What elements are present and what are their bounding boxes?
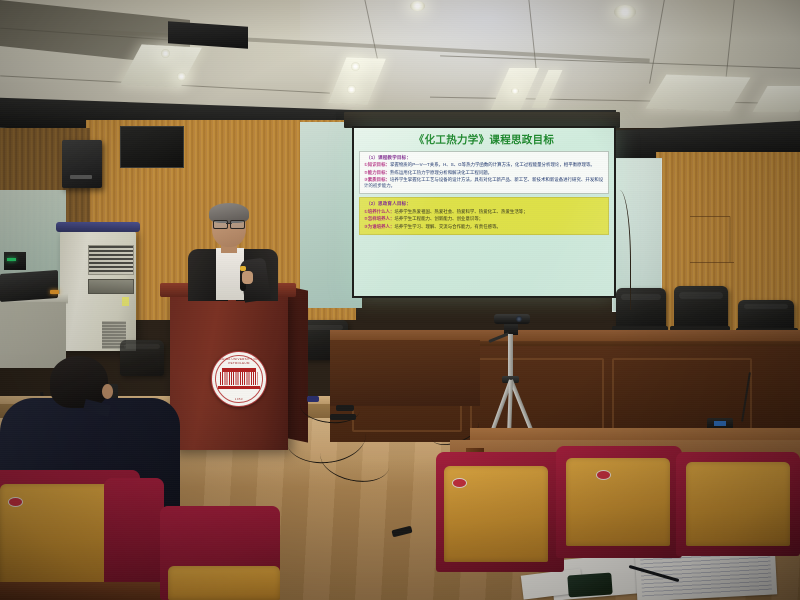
seat-badge bbox=[8, 497, 23, 507]
presenter-figure bbox=[186, 203, 282, 299]
section-1-line: ①知识目标：掌握物质的P—V—T关系，H、S、G等热力学函数的计算方法，化工过程… bbox=[364, 162, 604, 168]
section-1-line-tag: ③素质目标： bbox=[364, 177, 390, 182]
section-2-line-tag: ①培养什么人： bbox=[364, 209, 394, 214]
attendee-hair bbox=[50, 356, 108, 408]
section-2-line: ①培养什么人：培养学生热爱祖国、热爱社会、热爱科学、热爱化工、热爱生活等； bbox=[364, 209, 604, 215]
section-1-line: ③素质目标：培养学生掌握化工工艺与设备的设计方法，具有对化工新产品、新工艺、新技… bbox=[364, 177, 604, 190]
section-1-line-tag: ①知识目标： bbox=[364, 162, 390, 167]
section-1-line-text: 掌握物质的P—V—T关系，H、S、G等热力学函数的计算方法，化工过程能量分析理论… bbox=[390, 162, 595, 167]
camera-icon bbox=[494, 314, 530, 324]
eyeglasses-icon bbox=[212, 220, 246, 227]
section-2-line-text: 培养学生工程能力、创新能力、创业意识等； bbox=[394, 216, 483, 221]
tripod-center-column bbox=[508, 334, 513, 380]
seat-armrest bbox=[0, 582, 174, 600]
ceiling-downlight bbox=[347, 85, 356, 94]
cable-connector bbox=[336, 405, 354, 411]
ceiling-downlight bbox=[351, 62, 360, 71]
seat-badge bbox=[596, 470, 611, 480]
ceiling-downlight bbox=[511, 88, 519, 94]
section-1-line: ②能力目标：熟练运用化工热力学原理分析和解决化工工程问题。 bbox=[364, 170, 604, 176]
cable-connector bbox=[330, 414, 356, 420]
ac-grille bbox=[88, 245, 134, 275]
emblem-top-text: CHINA UNIVERSITY OF PETROLEUM bbox=[212, 357, 266, 365]
cable-plug bbox=[307, 396, 319, 402]
section-2-line-tag: ③为谁培养人： bbox=[364, 224, 394, 229]
tripod-leg bbox=[509, 379, 534, 434]
auditorium-seat-panel bbox=[566, 458, 670, 546]
ceiling-downlight bbox=[410, 1, 425, 11]
front-table bbox=[330, 340, 480, 406]
section-1-line-text: 培养学生掌握化工工艺与设备的设计方法，具有对化工新产品、新工艺、新技术和新设备进… bbox=[364, 177, 603, 188]
slide-title: 《化工热力学》课程思政目标 bbox=[359, 135, 609, 147]
auditorium-seat-panel bbox=[686, 462, 790, 546]
ac-top-cover bbox=[56, 222, 140, 232]
av-status-led bbox=[7, 258, 16, 261]
ceiling-downlight bbox=[161, 49, 170, 58]
projection-screen: 《化工热力学》课程思政目标 （1）课程教学目标： ①知识目标：掌握物质的P—V—… bbox=[352, 126, 616, 298]
air-conditioner-unit bbox=[60, 231, 136, 351]
eyeglass-lens-left bbox=[213, 220, 228, 229]
slide-section-ideological-goals: （2）思政育人目标： ①培养什么人：培养学生热爱祖国、热爱社会、热爱科学、热爱化… bbox=[359, 197, 609, 234]
wall-seam bbox=[690, 262, 734, 263]
tripod-pan-handle bbox=[488, 332, 510, 343]
section-2-line-tag: ②怎样培养人： bbox=[364, 216, 394, 221]
slide-content: 《化工热力学》课程思政目标 （1）课程教学目标： ①知识目标：掌握物质的P—V—… bbox=[354, 128, 614, 296]
lecture-hall-photo: 《化工热力学》课程思政目标 （1）课程教学目标： ①知识目标：掌握物质的P—V—… bbox=[0, 0, 800, 600]
emblem-bottom-text: 1953 bbox=[212, 398, 266, 401]
section-2-line: ②怎样培养人：培养学生工程能力、创新能力、创业意识等； bbox=[364, 216, 604, 222]
university-emblem: CHINA UNIVERSITY OF PETROLEUM 1953 bbox=[211, 351, 267, 407]
tripod-leg bbox=[507, 380, 513, 432]
auditorium-seat-panel bbox=[168, 566, 280, 600]
wall-display-panel bbox=[120, 126, 184, 168]
camera-tripod bbox=[486, 314, 536, 438]
emblem-building-columns bbox=[220, 372, 258, 385]
wall-seam bbox=[730, 217, 731, 263]
attendee-ear bbox=[102, 384, 113, 399]
emblem-base-bar bbox=[218, 386, 260, 389]
ceiling-downlight bbox=[614, 5, 636, 19]
ac-control-panel bbox=[88, 279, 134, 294]
seat-badge bbox=[452, 478, 467, 488]
wall-seam bbox=[690, 216, 730, 217]
wall-speaker-icon bbox=[62, 140, 102, 188]
ac-sticker bbox=[122, 297, 129, 306]
section-2-line-text: 培养学生学习、理解、交流与合作能力，有责任感等。 bbox=[394, 224, 501, 229]
eyeglass-lens-right bbox=[230, 220, 245, 229]
section-1-line-tag: ②能力目标： bbox=[364, 170, 390, 175]
av-mixer-unit bbox=[0, 270, 58, 302]
section-1-heading: （1）课程教学目标： bbox=[366, 155, 604, 161]
speaker-brand-badge bbox=[70, 175, 92, 179]
mobile-phone bbox=[567, 572, 612, 597]
presenter-hand bbox=[242, 271, 253, 284]
section-1-line-text: 熟练运用化工热力学原理分析和解决化工工程问题。 bbox=[390, 170, 492, 175]
section-2-line: ③为谁培养人：培养学生学习、理解、交流与合作能力，有责任感等。 bbox=[364, 224, 604, 230]
av-rack-unit bbox=[4, 252, 26, 270]
slide-section-teaching-goals: （1）课程教学目标： ①知识目标：掌握物质的P—V—T关系，H、S、G等热力学函… bbox=[359, 151, 609, 195]
section-2-heading: （2）思政育人目标： bbox=[366, 201, 604, 207]
section-2-line-text: 培养学生热爱祖国、热爱社会、热爱科学、热爱化工、热爱生活等； bbox=[394, 209, 527, 214]
ceiling-downlight bbox=[177, 72, 186, 81]
av-power-led bbox=[50, 290, 59, 294]
camera-lens-icon bbox=[516, 316, 522, 322]
table-microphone-display bbox=[714, 421, 726, 426]
